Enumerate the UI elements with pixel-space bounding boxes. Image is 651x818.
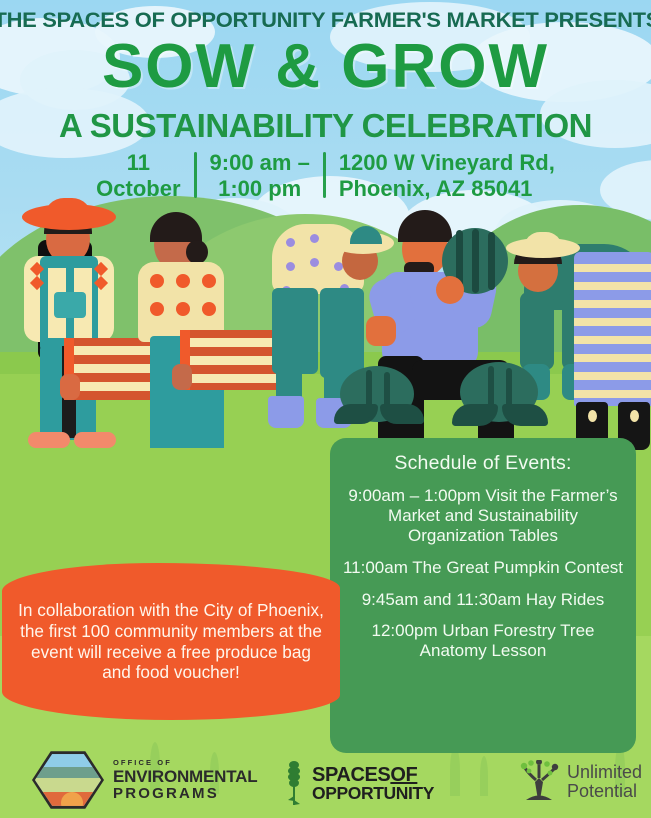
logo-spaces-of-opportunity: SPACESOF OPPORTUNITY bbox=[285, 760, 434, 808]
event-info-row: 11 October 9:00 am – 1:00 pm 1200 W Vine… bbox=[0, 150, 651, 202]
divider bbox=[194, 152, 197, 198]
footer-logos: OFFICE OF ENVIRONMENTAL PROGRAMS SPACESO… bbox=[0, 748, 651, 818]
presents-line: THE SPACES OF OPPORTUNITY FARMER'S MARKE… bbox=[0, 8, 651, 33]
environmental-badge-icon bbox=[32, 750, 104, 810]
logo-office-of-environmental-programs: OFFICE OF ENVIRONMENTAL PROGRAMS bbox=[32, 750, 257, 810]
tree-icon-svg bbox=[516, 760, 562, 804]
schedule-item: 11:00am The Great Pumpkin Contest bbox=[342, 558, 624, 578]
farmers-illustration bbox=[0, 196, 651, 436]
wheat-icon-svg bbox=[285, 760, 303, 808]
logo-line-2: OPPORTUNITY bbox=[312, 785, 434, 803]
event-date: 11 October bbox=[83, 150, 193, 202]
schedule-panel: Schedule of Events: 9:00am – 1:00pm Visi… bbox=[330, 438, 636, 753]
logo-unlimited-potential: Unlimited Potential bbox=[516, 760, 642, 804]
event-time: 9:00 am – 1:00 pm bbox=[197, 150, 323, 202]
schedule-item: 9:45am and 11:30am Hay Rides bbox=[342, 590, 624, 610]
logo-line-2: ENVIRONMENTAL bbox=[113, 768, 257, 785]
divider bbox=[323, 152, 326, 198]
event-poster: THE SPACES OF OPPORTUNITY FARMER'S MARKE… bbox=[0, 0, 651, 818]
promo-text: In collaboration with the City of Phoeni… bbox=[16, 600, 326, 683]
logo-line-2: Potential bbox=[567, 782, 642, 801]
tree-person-icon bbox=[516, 760, 562, 804]
event-location: 1200 W Vineyard Rd, Phoenix, AZ 85041 bbox=[326, 150, 568, 202]
logo-line-1: SPACESOF bbox=[312, 765, 434, 785]
promo-callout: In collaboration with the City of Phoeni… bbox=[2, 563, 340, 720]
logo-line-1: Unlimited bbox=[567, 763, 642, 782]
page-subtitle: A SUSTAINABILITY CELEBRATION bbox=[0, 109, 651, 142]
schedule-item: 12:00pm Urban Forestry Tree Anatomy Less… bbox=[342, 621, 624, 661]
wheat-stalk-icon bbox=[285, 760, 303, 808]
schedule-item: 9:00am – 1:00pm Visit the Farmer’s Marke… bbox=[342, 486, 624, 546]
page-title: SOW & GROW bbox=[0, 36, 651, 98]
logo-line-3: PROGRAMS bbox=[113, 786, 257, 801]
logo-line-1: OFFICE OF bbox=[113, 759, 257, 767]
schedule-title: Schedule of Events: bbox=[342, 452, 624, 475]
